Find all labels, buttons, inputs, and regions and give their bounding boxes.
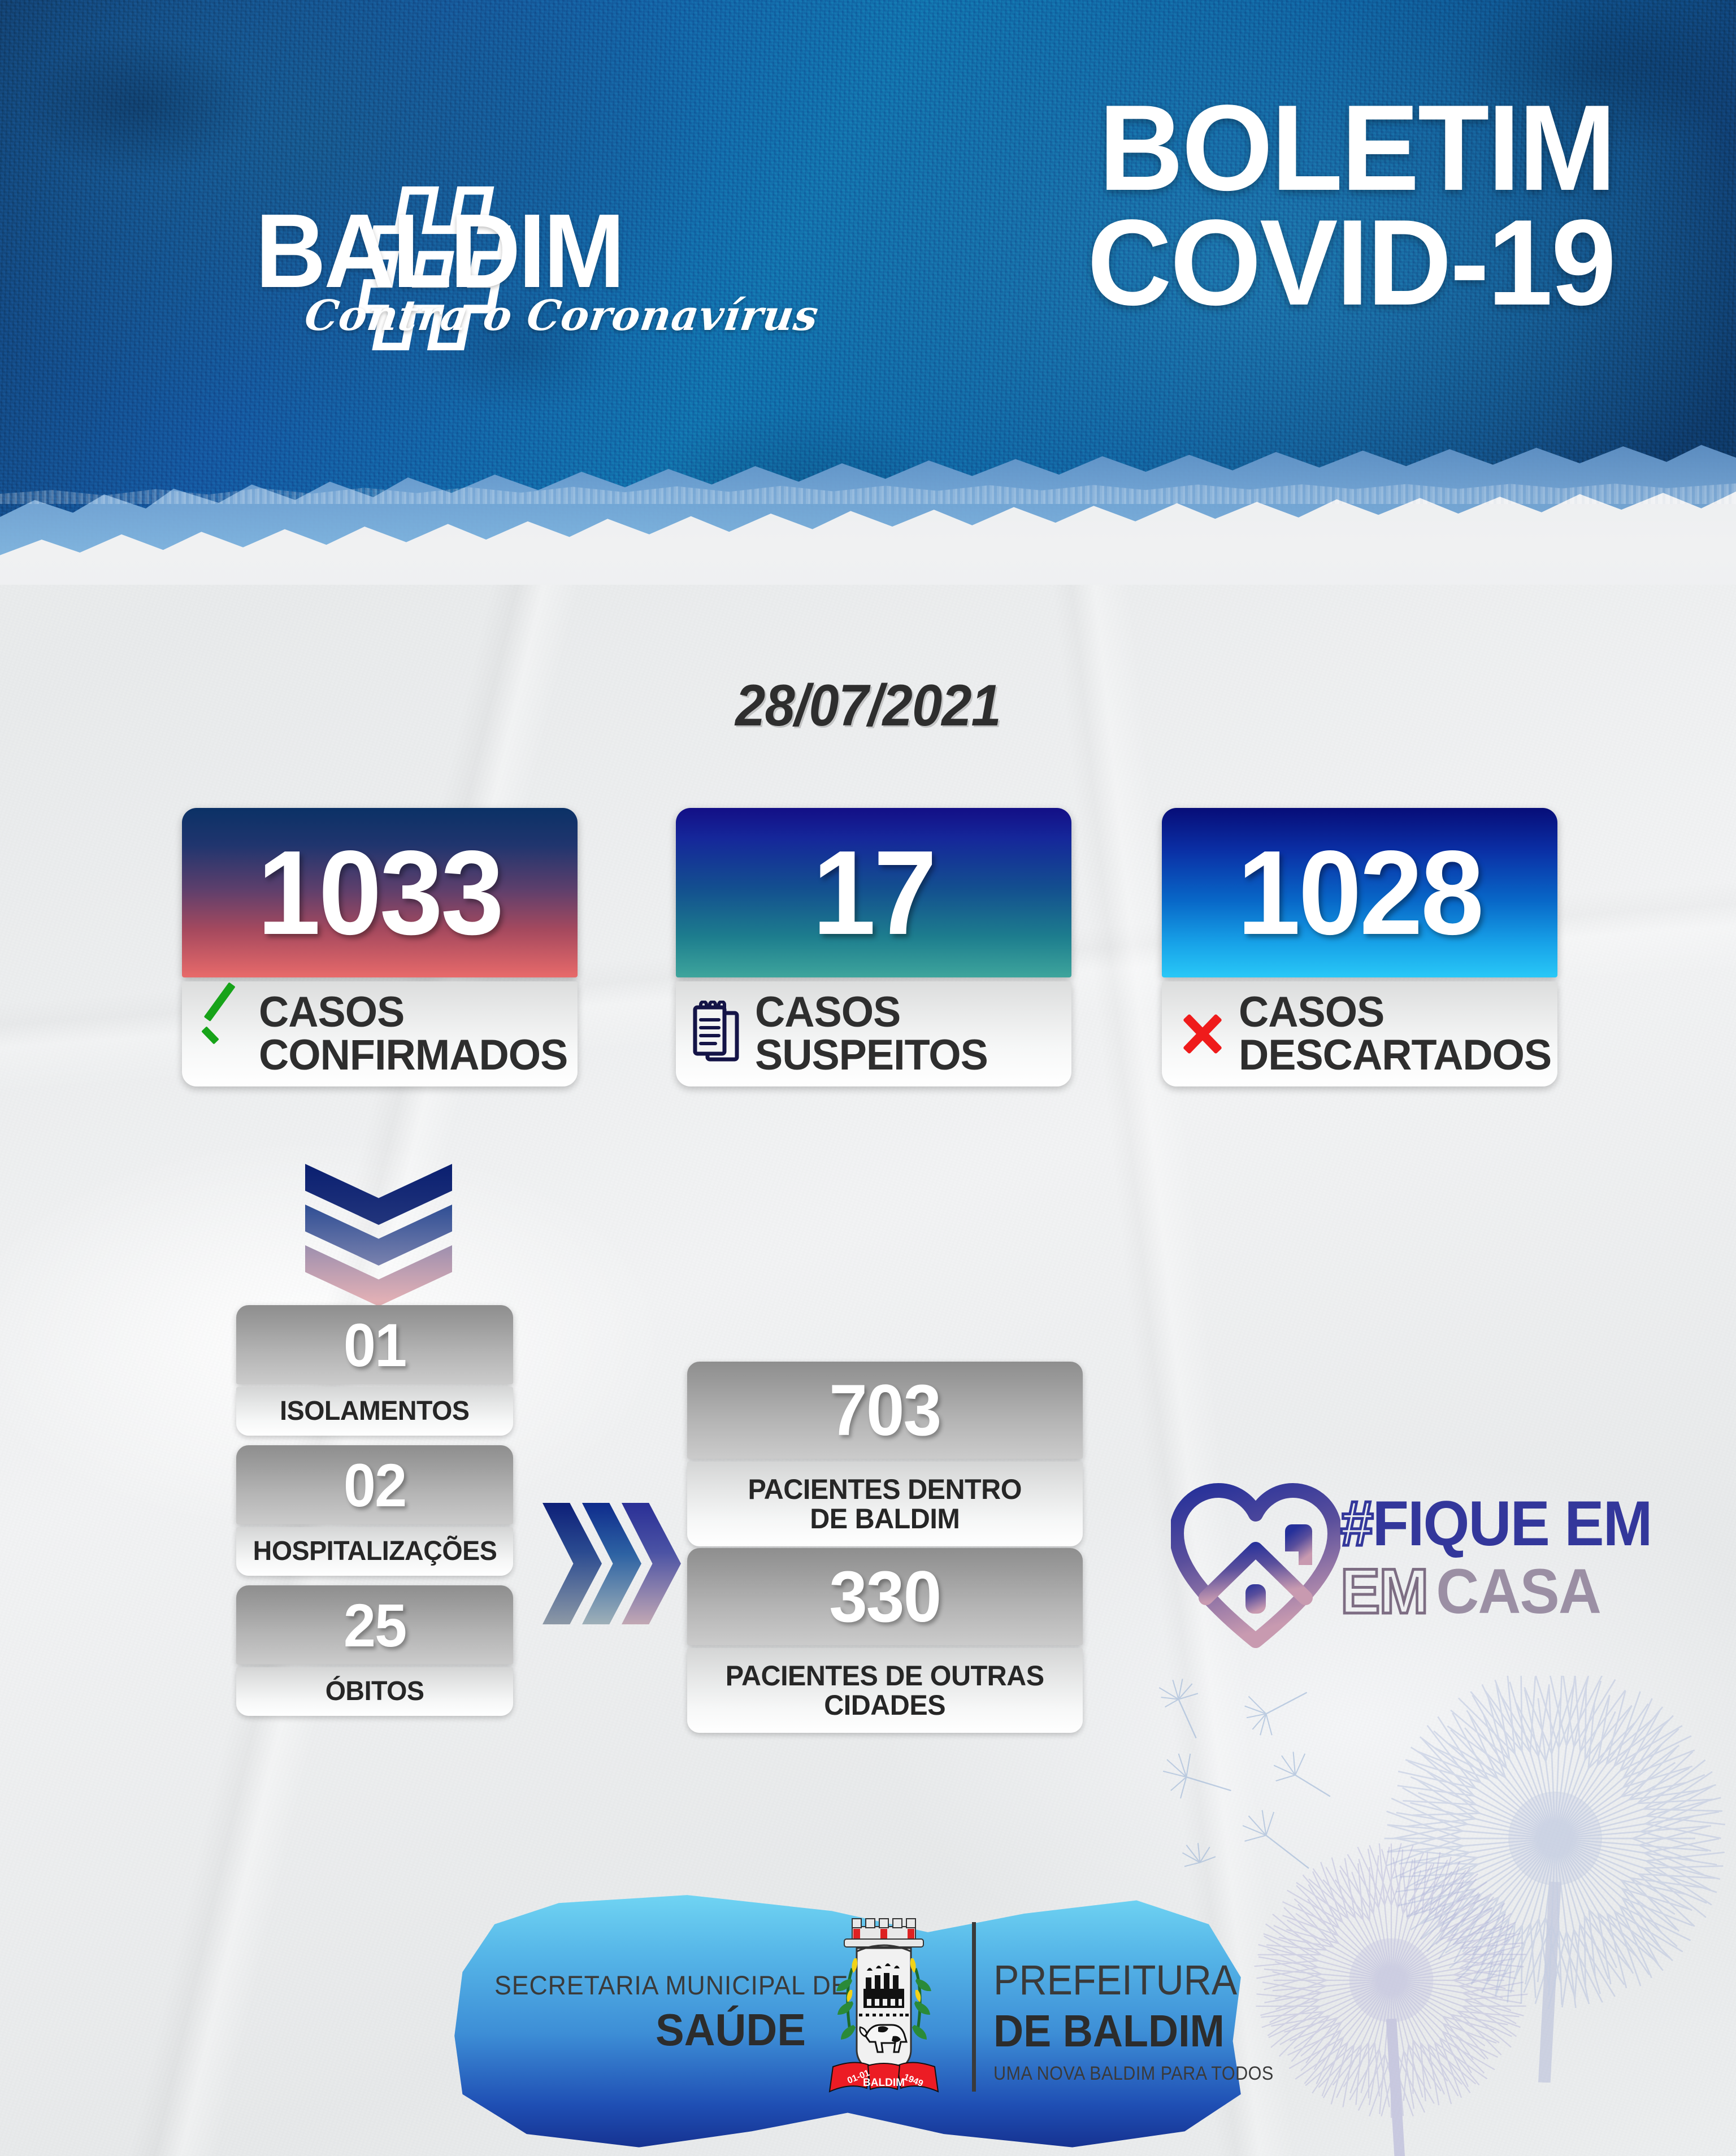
secretaria-line-2: SAÚDE: [494, 2004, 806, 2056]
suspeitos-label: CASOS SUSPEITOS: [755, 991, 988, 1077]
hospitalizacoes-label-panel: HOSPITALIZAÇÕES: [236, 1527, 513, 1576]
obitos-value: 25: [344, 1590, 406, 1661]
bulletin-date: 28/07/2021: [70, 672, 1666, 740]
main-stat-cards: 1033 CASOS CONFIRMADOS 17: [0, 808, 1736, 1158]
obitos-label: ÓBITOS: [325, 1677, 424, 1706]
descartados-label-line1: CASOS: [1239, 991, 1551, 1034]
campaign-line1-text: FIQUE EM: [1373, 1488, 1652, 1559]
pacientes-outras-label-line1: PACIENTES DE OUTRAS: [726, 1660, 1044, 1692]
descartados-value-panel: 1028: [1162, 808, 1557, 977]
pacientes-baldim-label-panel: PACIENTES DENTRO DE BALDIM: [687, 1462, 1083, 1546]
baldim-coat-of-arms-icon: 01-01 BALDIM 1949: [819, 1916, 948, 2103]
stat-card-confirmados: 1033 CASOS CONFIRMADOS: [182, 808, 578, 1086]
campaign-line-1: #FIQUE EM: [1340, 1492, 1659, 1556]
campaign-casa: CASA: [1436, 1556, 1600, 1627]
prefeitura-slogan: UMA NOVA BALDIM PARA TODOS: [993, 2063, 1212, 2085]
prefeitura-block: PREFEITURA DE BALDIM UMA NOVA BALDIM PAR…: [993, 1956, 1236, 2085]
descartados-label: CASOS DESCARTADOS: [1239, 991, 1551, 1077]
stat-pacientes-baldim: 703 PACIENTES DENTRO DE BALDIM: [687, 1362, 1083, 1546]
stat-pacientes-outras-cidades: 330 PACIENTES DE OUTRAS CIDADES: [687, 1548, 1083, 1733]
isolamentos-label-panel: ISOLAMENTOS: [236, 1387, 513, 1436]
obitos-label-panel: ÓBITOS: [236, 1667, 513, 1716]
confirmados-label-line2: CONFIRMADOS: [259, 1034, 567, 1077]
hospitalizacoes-value: 02: [344, 1450, 406, 1520]
pacientes-baldim-label-line2: DE BALDIM: [810, 1503, 960, 1535]
descartados-label-line2: DESCARTADOS: [1239, 1034, 1551, 1077]
pacientes-outras-value-panel: 330: [687, 1548, 1083, 1645]
confirmados-value: 1033: [258, 824, 502, 962]
campaign-hash: #: [1340, 1488, 1373, 1559]
pacientes-outras-value: 330: [829, 1555, 940, 1638]
suspeitos-value-panel: 17: [676, 808, 1071, 977]
page-title: BOLETIM COVID-19: [1065, 90, 1615, 320]
secretaria-line-1: SECRETARIA MUNICIPAL DE: [494, 1970, 806, 2001]
obitos-value-panel: 25: [236, 1585, 513, 1664]
clipboard-icon: [688, 1001, 745, 1067]
chevron-down-group: [305, 1164, 452, 1305]
title-line-2: COVID-19: [1087, 205, 1615, 320]
pacientes-baldim-label-line1: PACIENTES DENTRO: [748, 1473, 1022, 1505]
suspeitos-label-line1: CASOS: [755, 991, 988, 1034]
confirmados-label: CASOS CONFIRMADOS: [259, 991, 567, 1077]
suspeitos-value: 17: [813, 824, 935, 962]
confirmados-label-panel: CASOS CONFIRMADOS: [182, 981, 578, 1086]
x-icon: [1174, 1006, 1229, 1062]
chevron-right-group: [542, 1503, 684, 1624]
campaign-em: EM: [1340, 1556, 1427, 1627]
prefeitura-line-1: PREFEITURA: [993, 1956, 1217, 2004]
pacientes-outras-label: PACIENTES DE OUTRAS CIDADES: [726, 1661, 1044, 1720]
pacientes-baldim-label: PACIENTES DENTRO DE BALDIM: [748, 1475, 1022, 1534]
hospitalizacoes-value-panel: 02: [236, 1445, 513, 1524]
pacientes-outras-label-line2: CIDADES: [824, 1689, 946, 1721]
title-line-1: BOLETIM: [1087, 90, 1615, 205]
heart-house-icon: [1171, 1481, 1340, 1651]
prefeitura-line-2: DE BALDIM: [993, 2005, 1217, 2057]
crest-ribbon-center: BALDIM: [863, 2077, 905, 2089]
campaign-text: #FIQUE EM EMCASA: [1340, 1492, 1679, 1624]
descartados-label-panel: CASOS DESCARTADOS: [1162, 981, 1557, 1086]
stat-obitos: 25 ÓBITOS: [236, 1585, 513, 1716]
secretaria-block: SECRETARIA MUNICIPAL DE SAÚDE: [478, 1970, 806, 2056]
confirmados-label-line1: CASOS: [259, 991, 567, 1034]
stat-isolamentos: 01 ISOLAMENTOS: [236, 1305, 513, 1436]
stat-hospitalizacoes: 02 HOSPITALIZAÇÕES: [236, 1445, 513, 1576]
stat-card-suspeitos: 17 CASOS SUSPEITOS: [676, 808, 1071, 1086]
stat-card-descartados: 1028 CASOS DESCARTADOS: [1162, 808, 1557, 1086]
isolamentos-label: ISOLAMENTOS: [280, 1397, 469, 1425]
pacientes-baldim-value: 703: [829, 1369, 940, 1452]
isolamentos-value-panel: 01: [236, 1305, 513, 1384]
isolamentos-value: 01: [344, 1310, 406, 1380]
confirmados-value-panel: 1033: [182, 808, 578, 977]
pacientes-baldim-value-panel: 703: [687, 1362, 1083, 1459]
campaign-line-2: EMCASA: [1340, 1559, 1659, 1624]
header-banner: BALDIM Contra o Coronavírus BOLETIM COVI…: [0, 0, 1736, 585]
check-icon: [194, 1006, 249, 1062]
hospitalizacoes-label: HOSPITALIZAÇÕES: [253, 1537, 497, 1566]
bulletin-page: BALDIM Contra o Coronavírus BOLETIM COVI…: [0, 0, 1736, 2156]
logo-tagline: Contra o Coronavírus: [302, 292, 822, 340]
suspeitos-label-panel: CASOS SUSPEITOS: [676, 981, 1071, 1086]
footer-bar: SECRETARIA MUNICIPAL DE SAÚDE: [446, 1887, 1249, 2153]
pacientes-outras-label-panel: PACIENTES DE OUTRAS CIDADES: [687, 1648, 1083, 1733]
fique-em-casa-campaign: #FIQUE EM EMCASA: [1171, 1469, 1679, 1678]
dandelion-seeds-icon: [1148, 1670, 1442, 1913]
footer-divider: [972, 1922, 976, 2092]
baldim-logo: BALDIM Contra o Coronavírus: [136, 186, 740, 350]
descartados-value: 1028: [1238, 824, 1482, 962]
suspeitos-label-line2: SUSPEITOS: [755, 1034, 988, 1077]
